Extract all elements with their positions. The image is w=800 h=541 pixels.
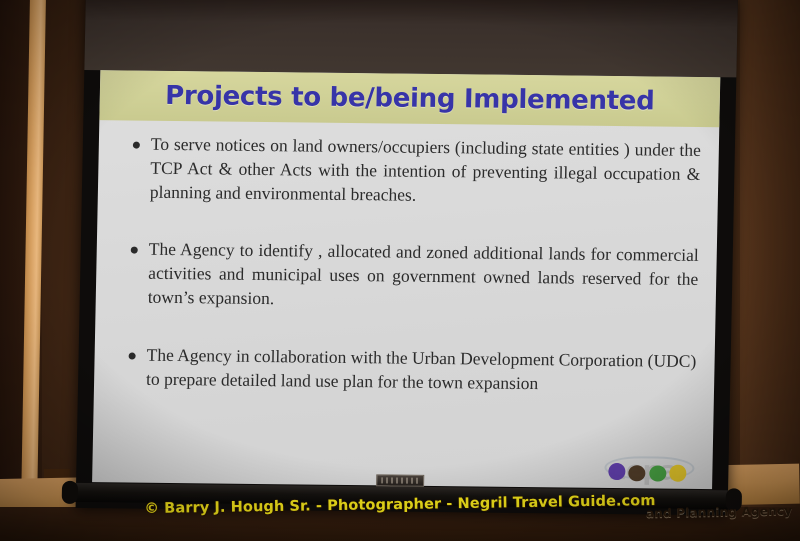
screen-top-casing	[84, 0, 738, 77]
bullet-dot-icon	[129, 352, 136, 359]
bullet-text: The Agency in collaboration with the Urb…	[146, 343, 697, 397]
slide-body: To serve notices on land owners/occupier…	[127, 133, 701, 432]
bullet-dot-icon	[133, 142, 140, 149]
bullet-item: The Agency in collaboration with the Urb…	[128, 343, 697, 397]
bullet-text: To serve notices on land owners/occupier…	[150, 133, 701, 211]
slide-title-band: Projects to be/being Implemented	[99, 70, 720, 127]
nepa-dot-yellow-icon	[669, 465, 686, 482]
nepa-logo: nepa	[602, 454, 695, 485]
bullet-text: The Agency to identify , allocated and z…	[148, 238, 699, 316]
projector-screen: Projects to be/being Implemented To serv…	[76, 0, 738, 515]
screen-roller-cap-left	[62, 481, 78, 504]
slide-surface: Projects to be/being Implemented To serv…	[92, 70, 720, 489]
bullet-item: The Agency to identify , allocated and z…	[130, 238, 699, 316]
bullet-item: To serve notices on land owners/occupier…	[132, 133, 701, 211]
screen-pull-tab-grip-icon	[381, 477, 419, 483]
slide-title: Projects to be/being Implemented	[165, 81, 655, 117]
wall-right-panel	[740, 0, 800, 541]
photograph-of-projected-slide: Projects to be/being Implemented To serv…	[0, 0, 800, 541]
bullet-dot-icon	[131, 247, 138, 254]
screen-pull-tab[interactable]	[376, 474, 424, 487]
